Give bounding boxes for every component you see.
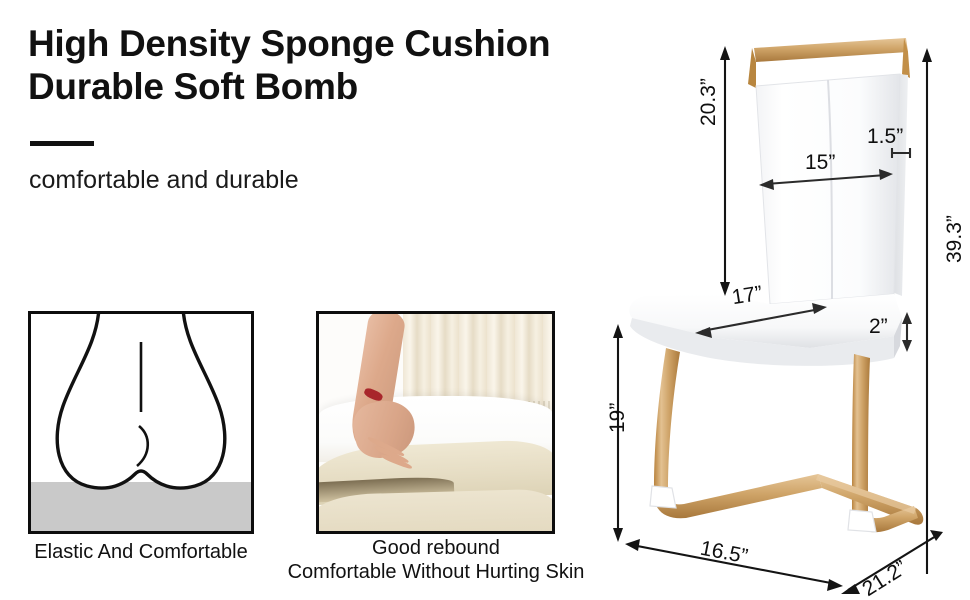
dimension-label-seat-depth: 17” bbox=[730, 282, 764, 310]
caption-rebound: Good rebound Comfortable Without Hurting… bbox=[278, 537, 594, 584]
dimension-label-backrest-width: 15” bbox=[805, 151, 835, 175]
dimension-label-backrest-thickness: 1.5” bbox=[867, 125, 903, 149]
caption-elastic-text: Elastic And Comfortable bbox=[34, 541, 247, 563]
title-divider bbox=[30, 141, 94, 146]
dimension-label-seat-thickness: 2” bbox=[869, 315, 888, 339]
title-line-1: High Density Sponge Cushion bbox=[28, 23, 550, 64]
dimension-label-backrest-height: 20.3” bbox=[697, 78, 721, 126]
foam-press-photo bbox=[319, 314, 552, 531]
caption-elastic: Elastic And Comfortable bbox=[20, 541, 262, 565]
page-title: High Density Sponge Cushion Durable Soft… bbox=[28, 22, 688, 109]
page-subtitle: comfortable and durable bbox=[29, 166, 299, 195]
caption-rebound-line-1: Good rebound bbox=[278, 537, 594, 561]
dimension-label-seat-height: 19” bbox=[606, 403, 630, 433]
chair-dimension-figure: 20.3” 1.5” 15” 17” 2” 39.3” 19” 16.5” 21… bbox=[596, 18, 970, 596]
foam-layer-lower bbox=[316, 488, 555, 534]
title-line-2: Durable Soft Bomb bbox=[28, 65, 688, 108]
infographic-page: High Density Sponge Cushion Durable Soft… bbox=[0, 0, 970, 600]
feature-panel-rebound bbox=[316, 311, 555, 534]
elastic-illustration bbox=[31, 314, 251, 531]
feature-panel-elastic bbox=[28, 311, 254, 534]
caption-rebound-line-2: Comfortable Without Hurting Skin bbox=[278, 561, 594, 585]
dimension-label-overall-height: 39.3” bbox=[943, 215, 967, 263]
